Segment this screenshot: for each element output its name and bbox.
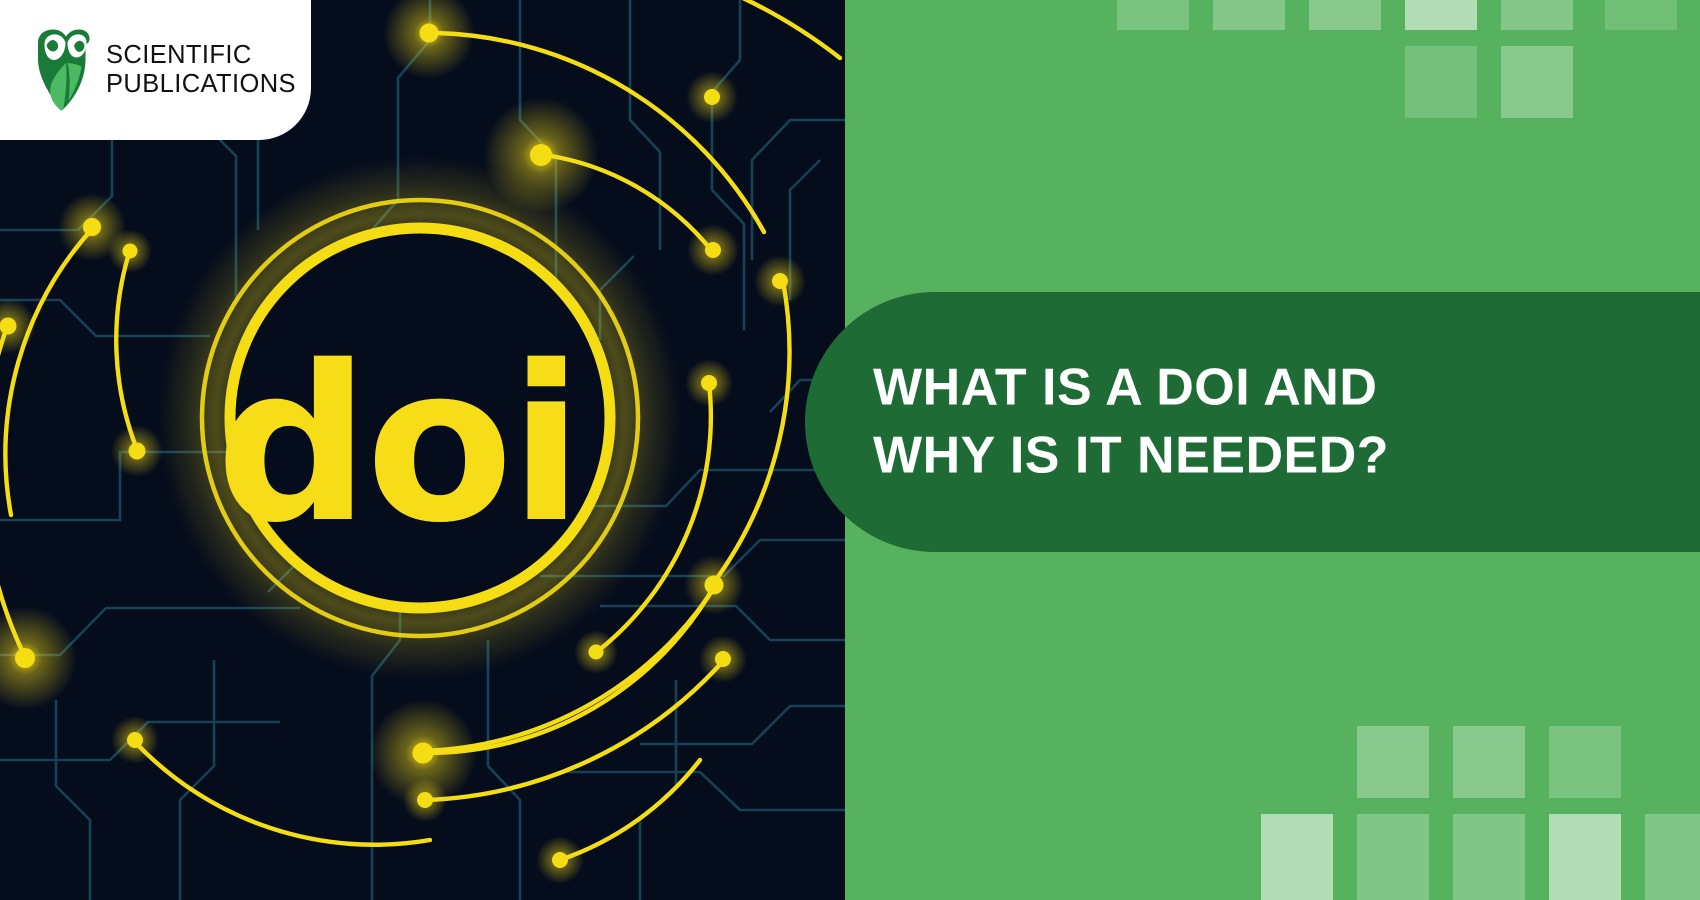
decor-square [1453, 726, 1525, 798]
decor-square [1405, 46, 1477, 118]
page-title: WHAT IS A DOI AND WHY IS IT NEEDED? [873, 354, 1573, 489]
owl-icon [34, 29, 90, 111]
page-title-line2: WHY IS IT NEEDED? [873, 422, 1573, 490]
decor-square [1357, 814, 1429, 900]
doi-ring [230, 228, 610, 608]
decor-square [1549, 814, 1621, 900]
decor-square [1213, 0, 1285, 30]
decor-square [1405, 0, 1477, 30]
poster-canvas: doi WHAT IS A DOI AND WHY IS IT NEEDED? … [0, 0, 1700, 900]
decor-square [1357, 726, 1429, 798]
decor-square [1645, 814, 1700, 900]
decor-square [1501, 46, 1573, 118]
decor-square [1501, 0, 1573, 30]
decor-square [1261, 814, 1333, 900]
brand-name-line1: SCIENTIFIC [106, 43, 296, 69]
brand-logo-card[interactable]: SCIENTIFIC PUBLICATIONS [0, 0, 311, 140]
page-title-line1: WHAT IS A DOI AND [873, 354, 1573, 422]
title-banner: WHAT IS A DOI AND WHY IS IT NEEDED? [805, 292, 1700, 552]
brand-name: SCIENTIFIC PUBLICATIONS [106, 43, 296, 98]
decor-square [1453, 814, 1525, 900]
decor-square [1549, 726, 1621, 798]
decor-square [1605, 0, 1677, 30]
decor-square [1309, 0, 1381, 30]
brand-name-line2: PUBLICATIONS [106, 72, 296, 98]
decor-square [1117, 0, 1189, 30]
